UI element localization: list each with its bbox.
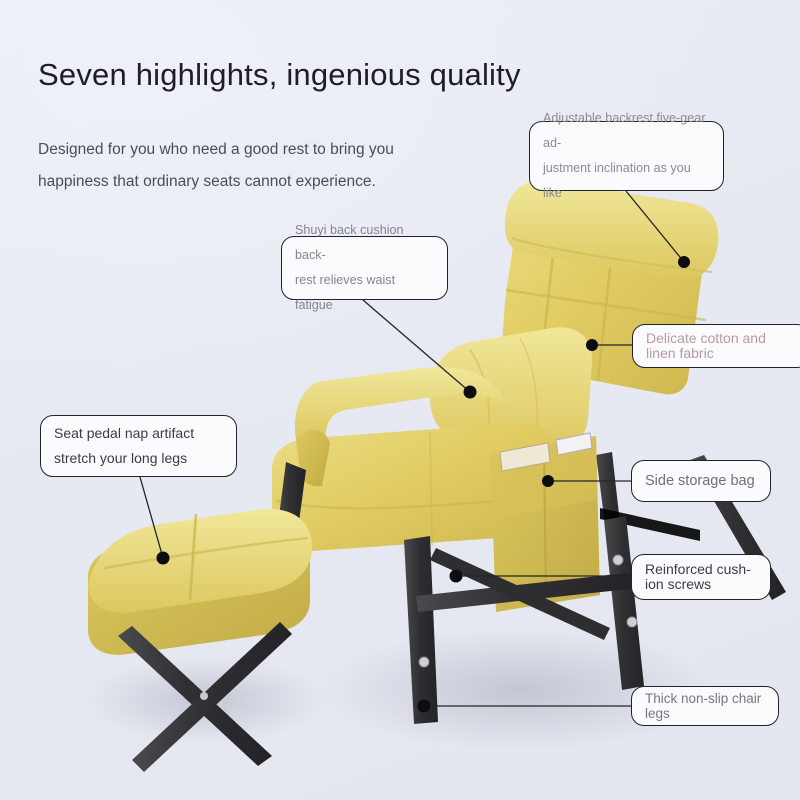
- callout-text: Adjustable backrest five-gear ad- justme…: [543, 106, 710, 206]
- callout-side-storage-bag: Side storage bag: [631, 460, 771, 502]
- callout-dot-pedal: [157, 552, 170, 565]
- callout-adjustable-backrest: Adjustable backrest five-gear ad- justme…: [529, 121, 724, 191]
- callout-seat-pedal: Seat pedal nap artifact stretch your lon…: [40, 415, 237, 477]
- callout-back-cushion: Shuyi back cushion back- rest relieves w…: [281, 236, 448, 300]
- callout-text: Seat pedal nap artifact stretch your lon…: [54, 421, 194, 471]
- callout-dot-backrest: [678, 256, 690, 268]
- callout-dot-cushion: [464, 386, 477, 399]
- callout-text: Shuyi back cushion back- rest relieves w…: [295, 218, 434, 318]
- page-title: Seven highlights, ingenious quality: [38, 57, 521, 93]
- callout-dot-bag: [542, 475, 554, 487]
- callout-dot-screws: [450, 570, 463, 583]
- callout-cotton-linen-fabric: Delicate cotton and linen fabric: [632, 324, 800, 368]
- callout-text: Reinforced cush- ion screws: [645, 562, 751, 592]
- callout-text: Thick non-slip chair legs: [645, 691, 765, 721]
- callout-reinforced-screws: Reinforced cush- ion screws: [631, 554, 771, 600]
- callout-text: Side storage bag: [645, 473, 755, 489]
- infographic-canvas: Seven highlights, ingenious quality Desi…: [0, 0, 800, 800]
- callout-dot-legs: [418, 700, 431, 713]
- callout-non-slip-legs: Thick non-slip chair legs: [631, 686, 779, 726]
- callout-dot-fabric: [586, 339, 598, 351]
- page-subtitle: Designed for you who need a good rest to…: [38, 134, 394, 198]
- callout-text: Delicate cotton and linen fabric: [646, 331, 766, 361]
